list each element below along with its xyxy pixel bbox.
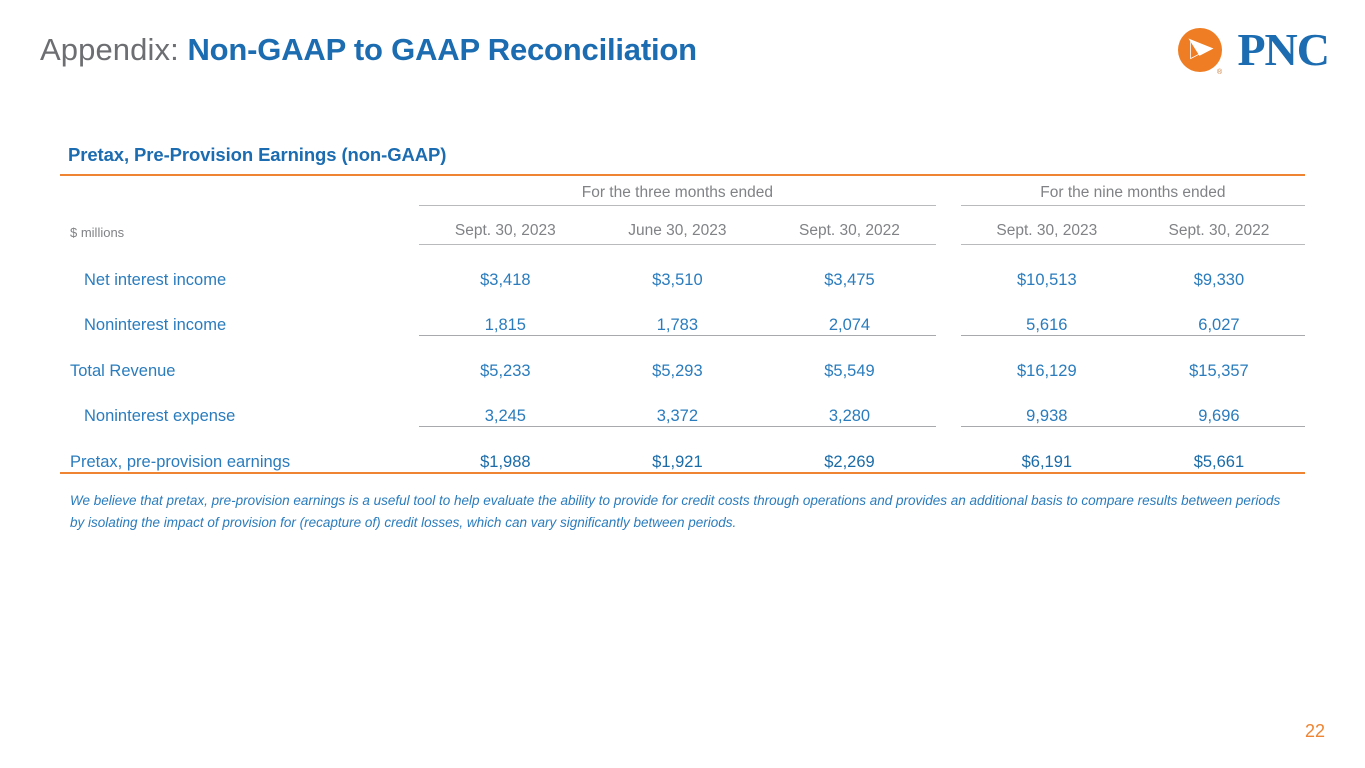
column-header-4: Sept. 30, 2022 bbox=[1133, 206, 1305, 244]
row-value: 3,245 bbox=[419, 381, 591, 426]
table-bottom-rule bbox=[60, 472, 1305, 474]
row-value: 3,280 bbox=[763, 381, 935, 426]
row-label: Total Revenue bbox=[60, 336, 419, 381]
svg-text:®: ® bbox=[1217, 68, 1223, 76]
row-label: Pretax, pre-provision earnings bbox=[60, 427, 419, 472]
row-value: $5,233 bbox=[419, 336, 591, 381]
row-value: $16,129 bbox=[961, 336, 1133, 381]
row-value: $5,549 bbox=[763, 336, 935, 381]
row-value: 3,372 bbox=[591, 381, 763, 426]
row-value: $10,513 bbox=[961, 245, 1133, 290]
table-row-total: Pretax, pre-provision earnings $1,988 $1… bbox=[60, 427, 1305, 472]
group-header-spacer bbox=[60, 176, 419, 205]
group-header-gap bbox=[936, 176, 961, 205]
table-row: Noninterest income 1,815 1,783 2,074 5,6… bbox=[60, 290, 1305, 335]
table-row: Total Revenue $5,233 $5,293 $5,549 $16,1… bbox=[60, 336, 1305, 381]
row-value: 1,815 bbox=[419, 290, 591, 335]
row-gap bbox=[936, 427, 961, 472]
row-label: Noninterest income bbox=[60, 290, 419, 335]
group-header-nine-months: For the nine months ended bbox=[961, 176, 1305, 205]
slide-header: Appendix: Non-GAAP to GAAP Reconciliatio… bbox=[0, 0, 1365, 100]
row-value: $9,330 bbox=[1133, 245, 1305, 290]
table-group-header-row: For the three months ended For the nine … bbox=[60, 176, 1305, 205]
page-number: 22 bbox=[1305, 721, 1325, 742]
row-gap bbox=[936, 290, 961, 335]
column-header-0: Sept. 30, 2023 bbox=[419, 206, 591, 244]
column-header-3: Sept. 30, 2023 bbox=[961, 206, 1133, 244]
row-value: $2,269 bbox=[763, 427, 935, 472]
footnote-text: We believe that pretax, pre-provision ea… bbox=[70, 490, 1298, 534]
table-column-header-row: $ millions Sept. 30, 2023 June 30, 2023 … bbox=[60, 206, 1305, 244]
table-row: Noninterest expense 3,245 3,372 3,280 9,… bbox=[60, 381, 1305, 426]
pnc-circle-arrow-icon: ® bbox=[1175, 26, 1227, 78]
row-label: Net interest income bbox=[60, 245, 419, 290]
row-value: 9,938 bbox=[961, 381, 1133, 426]
row-label: Noninterest expense bbox=[60, 381, 419, 426]
row-value: $1,988 bbox=[419, 427, 591, 472]
row-value: $3,475 bbox=[763, 245, 935, 290]
row-gap bbox=[936, 381, 961, 426]
row-value: $6,191 bbox=[961, 427, 1133, 472]
row-value: 6,027 bbox=[1133, 290, 1305, 335]
unit-label: $ millions bbox=[60, 206, 419, 244]
page-title: Appendix: Non-GAAP to GAAP Reconciliatio… bbox=[40, 32, 697, 68]
column-header-gap bbox=[936, 206, 961, 244]
row-value: $3,418 bbox=[419, 245, 591, 290]
pnc-wordmark: PNC bbox=[1237, 27, 1329, 77]
row-value: $1,921 bbox=[591, 427, 763, 472]
row-value: 5,616 bbox=[961, 290, 1133, 335]
row-value: $5,661 bbox=[1133, 427, 1305, 472]
pnc-logo: ® PNC bbox=[1175, 26, 1329, 78]
row-value: $5,293 bbox=[591, 336, 763, 381]
page-title-main: Non-GAAP to GAAP Reconciliation bbox=[188, 32, 697, 67]
reconciliation-table: For the three months ended For the nine … bbox=[60, 176, 1305, 472]
row-gap bbox=[936, 245, 961, 290]
row-value: 2,074 bbox=[763, 290, 935, 335]
reconciliation-table-wrapper: For the three months ended For the nine … bbox=[60, 174, 1305, 474]
page-title-prefix: Appendix: bbox=[40, 32, 188, 67]
row-value: 1,783 bbox=[591, 290, 763, 335]
row-value: 9,696 bbox=[1133, 381, 1305, 426]
column-header-1: June 30, 2023 bbox=[591, 206, 763, 244]
row-gap bbox=[936, 336, 961, 381]
row-value: $3,510 bbox=[591, 245, 763, 290]
group-header-three-months: For the three months ended bbox=[419, 176, 935, 205]
column-header-2: Sept. 30, 2022 bbox=[763, 206, 935, 244]
row-value: $15,357 bbox=[1133, 336, 1305, 381]
section-heading: Pretax, Pre-Provision Earnings (non-GAAP… bbox=[68, 144, 446, 166]
table-row: Net interest income $3,418 $3,510 $3,475… bbox=[60, 245, 1305, 290]
